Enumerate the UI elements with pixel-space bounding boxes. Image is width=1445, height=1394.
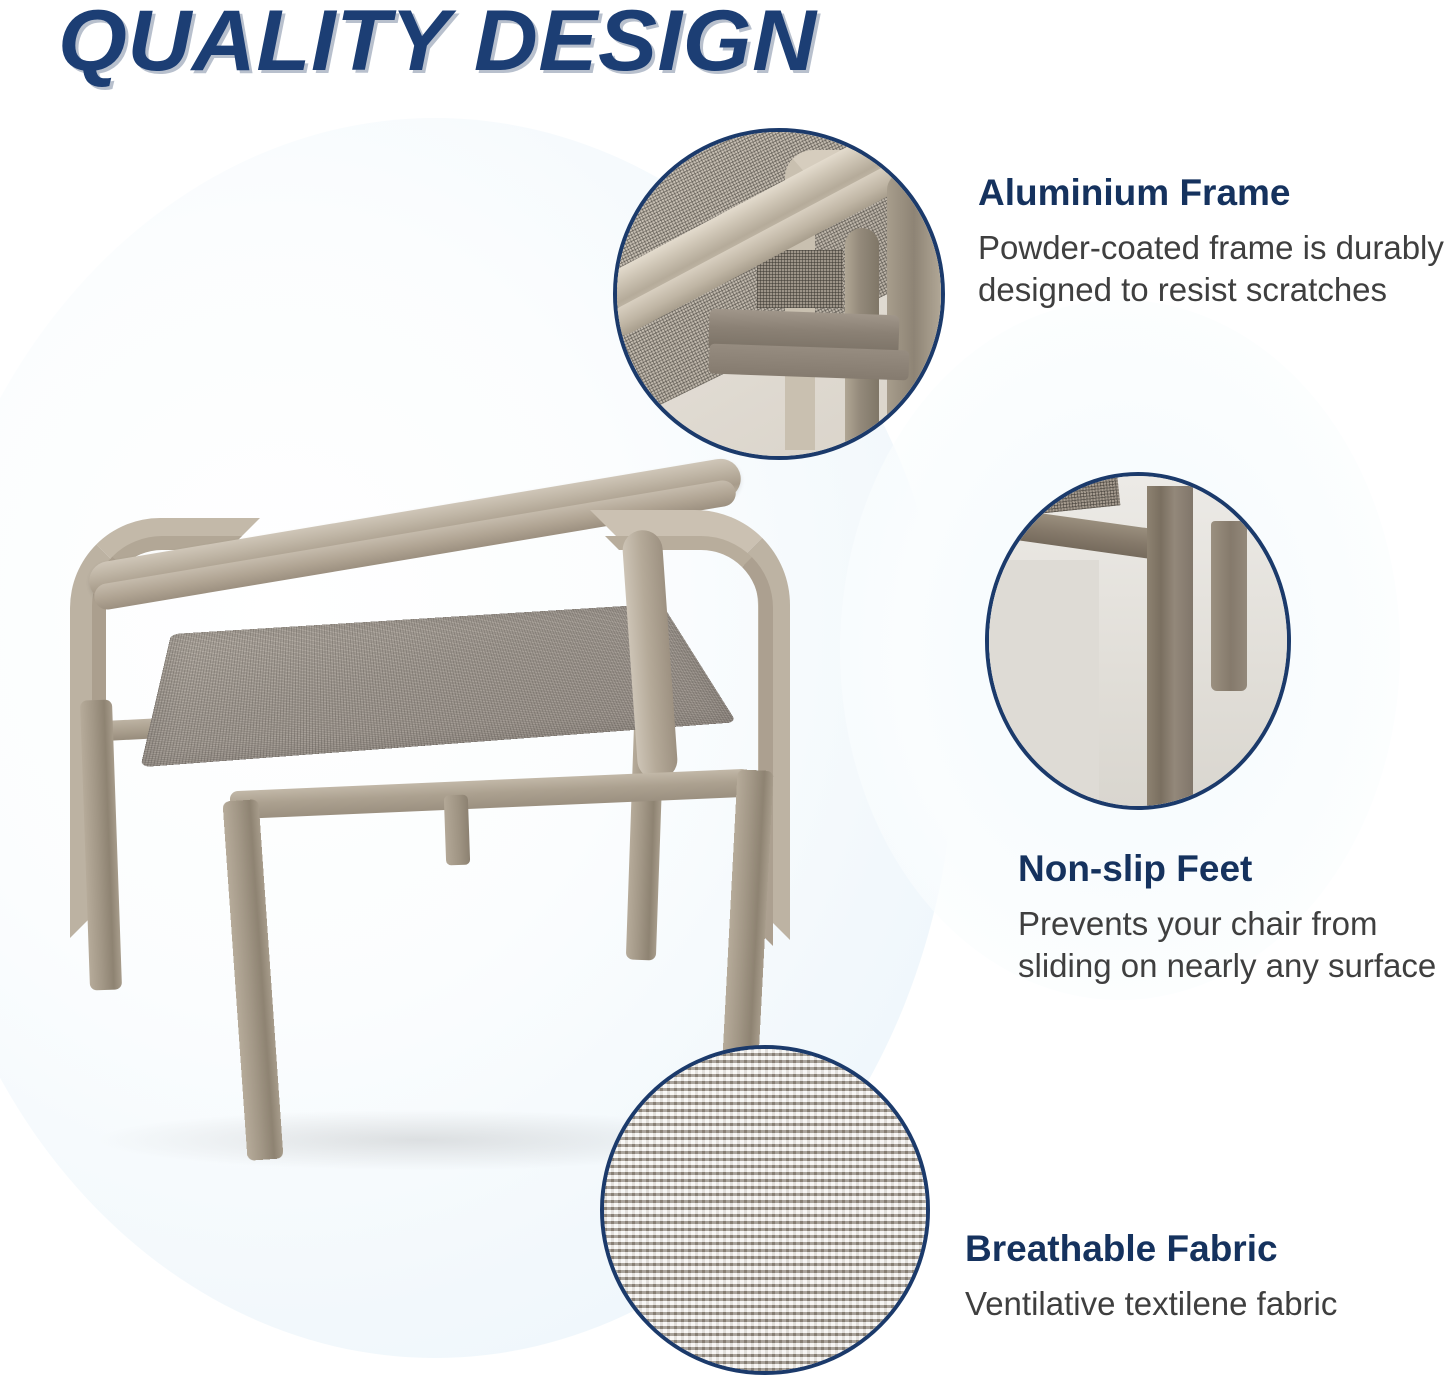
feature-title: Aluminium Frame bbox=[978, 172, 1445, 215]
page-title: QUALITY DESIGN bbox=[58, 0, 817, 91]
frame-brace-middle bbox=[444, 795, 470, 866]
feature-block-non-slip-feet: Non-slip Feet Prevents your chair from s… bbox=[1018, 848, 1445, 988]
feature-block-breathable-fabric: Breathable Fabric Ventilative textilene … bbox=[965, 1228, 1445, 1325]
callout-circle-breathable-fabric bbox=[600, 1045, 930, 1375]
frame-leg-detail-back bbox=[1211, 521, 1247, 691]
frame-leg-detail-front bbox=[1147, 486, 1193, 810]
feature-block-aluminium-frame: Aluminium Frame Powder-coated frame is d… bbox=[978, 172, 1445, 312]
feature-title: Breathable Fabric bbox=[965, 1228, 1445, 1271]
callout-circle-aluminium-frame bbox=[613, 128, 945, 460]
feature-description: Prevents your chair from sliding on near… bbox=[1018, 903, 1445, 989]
frame-leg-front-left bbox=[222, 799, 283, 1161]
callout-circle-non-slip-feet bbox=[985, 472, 1291, 810]
feature-title: Non-slip Feet bbox=[1018, 848, 1445, 891]
feature-description: Powder-coated frame is durably designed … bbox=[978, 227, 1445, 313]
infographic-canvas: QUALITY DESIGN bbox=[0, 0, 1445, 1394]
feature-description: Ventilative textilene fabric bbox=[965, 1283, 1445, 1326]
seat-panel-detail bbox=[985, 560, 1099, 810]
textilene-weave-texture bbox=[604, 1049, 926, 1371]
frame-post-detail-back bbox=[887, 172, 941, 452]
